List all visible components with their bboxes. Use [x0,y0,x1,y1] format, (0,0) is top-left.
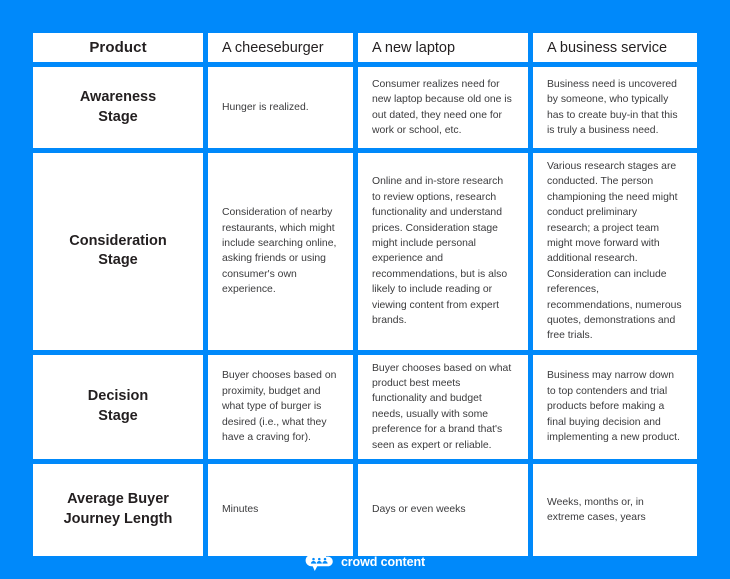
table-row-consideration-stage: Consideration Stage Consideration of nea… [33,153,697,355]
brand-name: crowd content [341,555,425,569]
row-label-line-2: Stage [98,109,138,125]
row-label-consideration-stage: Consideration Stage [33,153,208,355]
cell-awareness-laptop: Consumer realizes need for new laptop be… [358,67,533,153]
row-label-line-1: Awareness [80,89,156,105]
row-label-line-1: Average Buyer [67,491,169,507]
row-label-awareness-stage: Awareness Stage [33,67,208,153]
infographic-page: Product A cheeseburger A new laptop A bu… [0,0,730,579]
cell-awareness-business-service: Business need is uncovered by someone, w… [533,67,697,153]
column-header-product: Product [33,33,208,67]
column-header-cheeseburger: A cheeseburger [208,33,358,67]
buyer-journey-table-wrapper: Product A cheeseburger A new laptop A bu… [33,33,697,543]
table-header-row: Product A cheeseburger A new laptop A bu… [33,33,697,67]
table-row-average-buyer-journey-length: Average Buyer Journey Length Minutes Day… [33,464,697,556]
column-header-laptop: A new laptop [358,33,533,67]
row-label-line-2: Stage [98,408,138,424]
cell-length-cheeseburger: Minutes [208,464,358,556]
row-label-line-2: Stage [98,252,138,268]
cell-decision-business-service: Business may narrow down to top contende… [533,355,697,464]
row-label-decision-stage: Decision Stage [33,355,208,464]
crowd-content-cloud-icon [305,552,334,572]
cell-consideration-business-service: Various research stages are conducted. T… [533,153,697,355]
table-row-decision-stage: Decision Stage Buyer chooses based on pr… [33,355,697,464]
cell-consideration-cheeseburger: Consideration of nearby restaurants, whi… [208,153,358,355]
table-row-awareness-stage: Awareness Stage Hunger is realized. Cons… [33,67,697,153]
cell-consideration-laptop: Online and in-store research to review o… [358,153,533,355]
footer-branding: crowd content [0,545,730,579]
cell-decision-cheeseburger: Buyer chooses based on proximity, budget… [208,355,358,464]
column-header-business-service: A business service [533,33,697,67]
row-label-line-1: Consideration [69,233,166,249]
row-label-average-buyer-journey-length: Average Buyer Journey Length [33,464,208,556]
row-label-line-2: Journey Length [64,511,173,527]
cell-awareness-cheeseburger: Hunger is realized. [208,67,358,153]
buyer-journey-table: Product A cheeseburger A new laptop A bu… [33,33,697,556]
row-label-line-1: Decision [88,388,148,404]
cell-length-laptop: Days or even weeks [358,464,533,556]
cell-length-business-service: Weeks, months or, in extreme cases, year… [533,464,697,556]
cell-decision-laptop: Buyer chooses based on what product best… [358,355,533,464]
